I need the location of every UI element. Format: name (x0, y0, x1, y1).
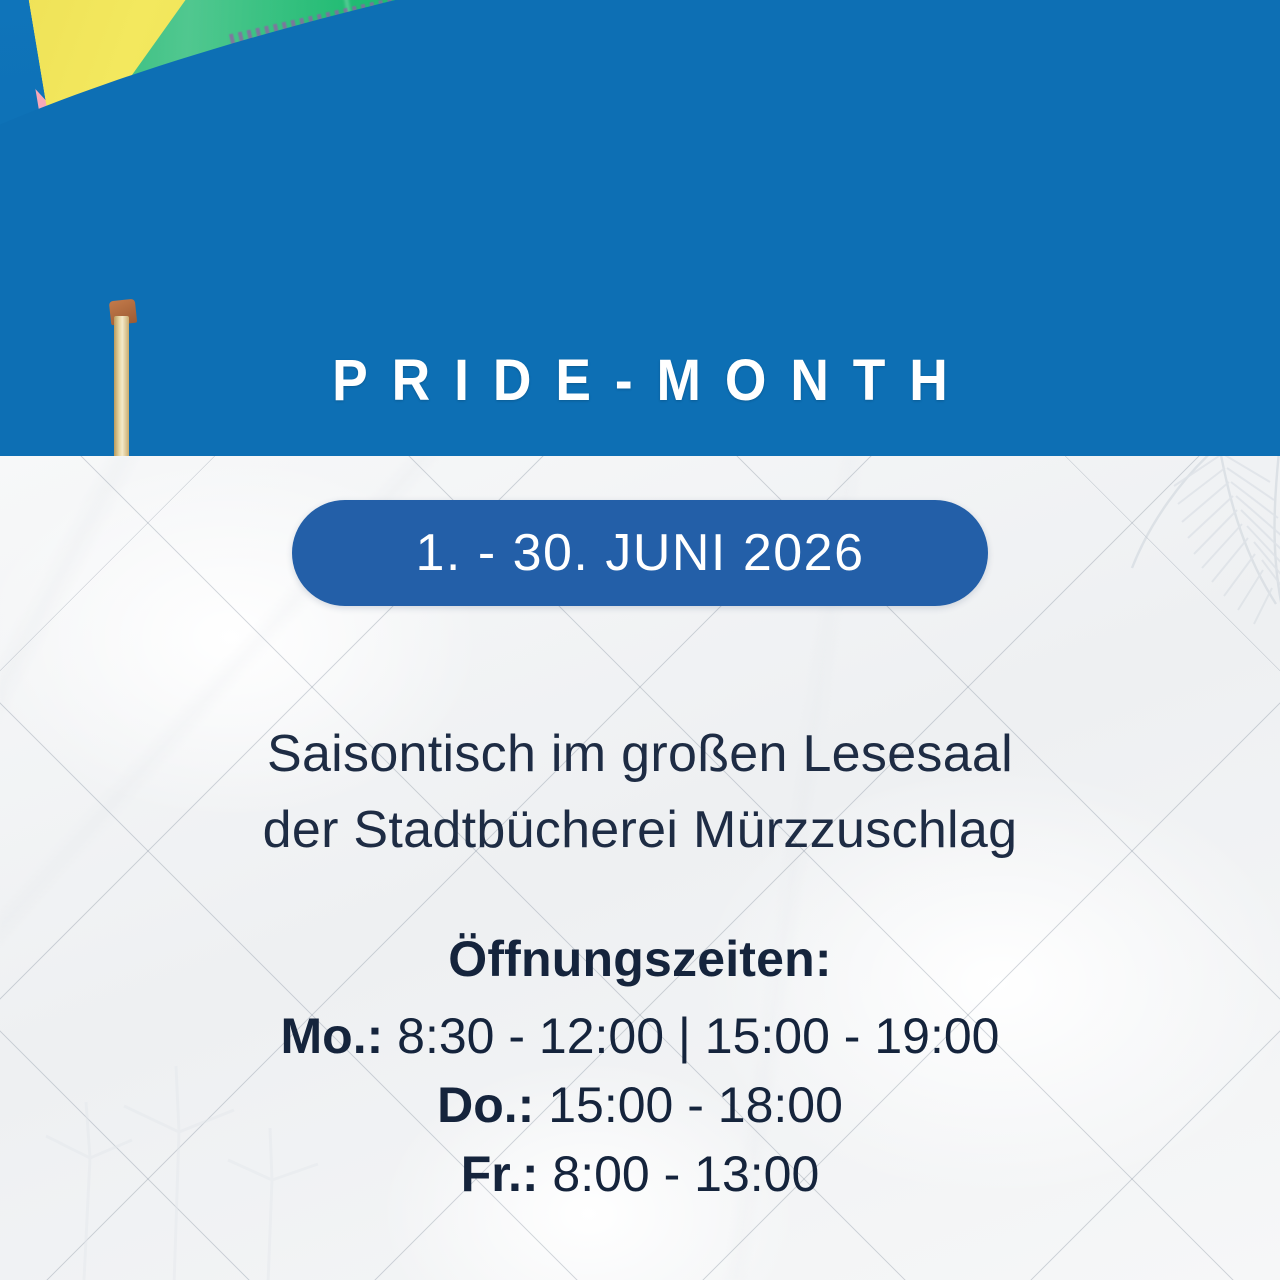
hours-times: 15:00 - 18:00 (548, 1077, 843, 1133)
hours-times: 8:00 - 13:00 (552, 1146, 819, 1202)
opening-hours-title: Öffnungszeiten: (0, 930, 1280, 988)
pride-month-poster: PRIDE-MONTH (0, 0, 1280, 1280)
hours-day-label: Mo.: (281, 1008, 384, 1064)
opening-hours-block: Öffnungszeiten: Mo.: 8:30 - 12:00 | 15:0… (0, 930, 1280, 1209)
hours-day-label: Fr.: (461, 1146, 539, 1202)
headline-line-2: der Stadtbücherei Mürzzuschlag (0, 792, 1280, 868)
hero-section: PRIDE-MONTH (0, 0, 1280, 456)
headline: Saisontisch im großen Lesesaal der Stadt… (0, 716, 1280, 869)
opening-hours-row: Mo.: 8:30 - 12:00 | 15:00 - 19:00 (0, 1002, 1280, 1071)
page-title: PRIDE-MONTH (51, 352, 1229, 410)
progress-pride-flag-image (4, 0, 1280, 330)
palm-leaf-icon (1022, 456, 1280, 708)
hours-times: 8:30 - 12:00 | 15:00 - 19:00 (397, 1008, 999, 1064)
opening-hours-row: Fr.: 8:00 - 13:00 (0, 1140, 1280, 1209)
opening-hours-row: Do.: 15:00 - 18:00 (0, 1071, 1280, 1140)
headline-line-1: Saisontisch im großen Lesesaal (0, 716, 1280, 792)
date-badge-label: 1. - 30. JUNI 2026 (416, 523, 865, 583)
date-badge: 1. - 30. JUNI 2026 (292, 500, 988, 606)
hours-day-label: Do.: (437, 1077, 534, 1133)
